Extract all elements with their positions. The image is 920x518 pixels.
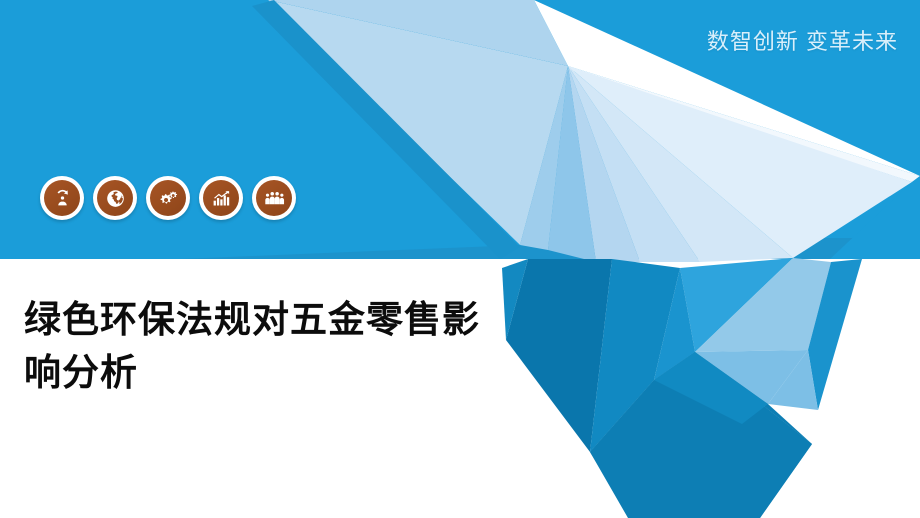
background-polygon-artwork	[0, 0, 920, 518]
recycle-person-glyph	[52, 188, 73, 209]
bar-chart-growth-icon[interactable]	[199, 176, 243, 220]
gears-icon-inner	[150, 180, 186, 216]
recycle-person-icon[interactable]	[40, 176, 84, 220]
bar-chart-growth-glyph	[211, 188, 232, 209]
slide-canvas: 数智创新 变革未来	[0, 0, 920, 518]
page-title: 绿色环保法规对五金零售影 响分析	[24, 294, 554, 399]
people-group-icon[interactable]	[252, 176, 296, 220]
recycle-person-icon-inner	[44, 180, 80, 216]
tagline: 数智创新 变革未来	[707, 24, 898, 56]
globe-glyph	[105, 188, 126, 209]
globe-icon[interactable]	[93, 176, 137, 220]
globe-icon-inner	[97, 180, 133, 216]
people-group-glyph	[264, 188, 285, 209]
page-title-line-1: 绿色环保法规对五金零售影	[24, 294, 554, 347]
bar-chart-growth-icon-inner	[203, 180, 239, 216]
gears-glyph	[158, 188, 179, 209]
people-group-icon-inner	[256, 180, 292, 216]
gears-icon[interactable]	[146, 176, 190, 220]
page-title-line-2: 响分析	[24, 347, 554, 400]
icon-badge-row	[40, 176, 296, 220]
